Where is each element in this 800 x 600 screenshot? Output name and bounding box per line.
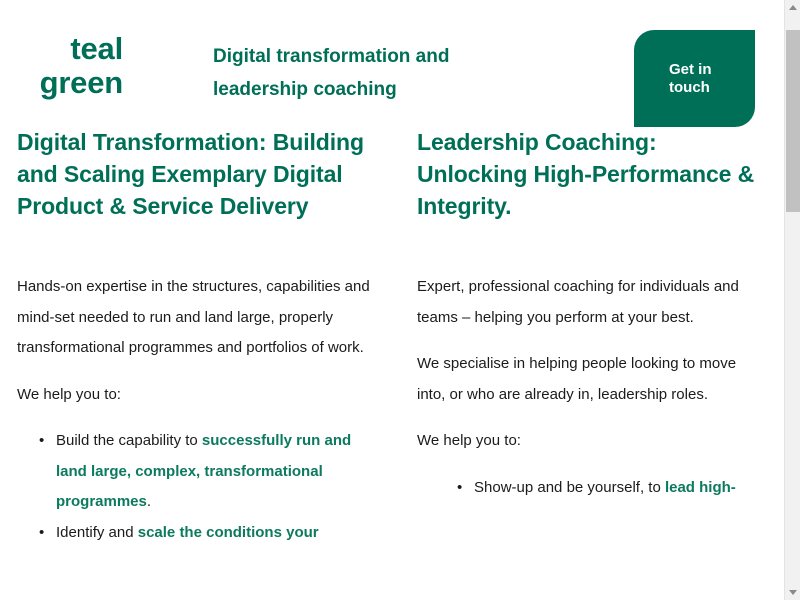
- right-column-intro-2: We specialise in helping people looking …: [417, 349, 761, 410]
- left-column-heading: Digital Transformation: Building and Sca…: [17, 126, 379, 222]
- site-header: teal green Digital transformation and le…: [1, 0, 785, 126]
- bullet-text-tail: .: [147, 493, 151, 510]
- list-item: Identify and scale the conditions your: [39, 518, 379, 549]
- column-digital-transformation: Digital Transformation: Building and Sca…: [1, 126, 409, 548]
- left-heading-spacer: [17, 222, 379, 272]
- right-para-spacer-1: [417, 333, 761, 349]
- list-item: Show-up and be yourself, to lead high-: [457, 473, 761, 504]
- column-leadership-coaching: Leadership Coaching: Unlocking High-Perf…: [409, 126, 785, 548]
- left-column-intro: Hands-on expertise in the structures, ca…: [17, 272, 379, 364]
- vertical-scrollbar[interactable]: [784, 0, 800, 600]
- two-column-section: Digital Transformation: Building and Sca…: [1, 126, 785, 548]
- site-tagline: Digital transformation and leadership co…: [213, 40, 543, 106]
- right-help-label: We help you to:: [417, 426, 761, 457]
- site-logo[interactable]: teal green: [17, 32, 123, 100]
- bullet-text-plain: Identify and: [56, 524, 138, 541]
- scrollbar-thumb[interactable]: [786, 30, 800, 212]
- right-bullet-list: Show-up and be yourself, to lead high-: [417, 473, 761, 504]
- bullet-text-highlight[interactable]: lead high-: [665, 479, 736, 496]
- right-para-spacer-2: [417, 410, 761, 426]
- left-list-spacer: [17, 410, 379, 426]
- right-list-spacer: [417, 457, 761, 473]
- logo-line-teal: teal: [17, 32, 123, 66]
- tagline-line-1: Digital transformation and: [213, 46, 449, 67]
- left-bullet-list: Build the capability to successfully run…: [17, 426, 379, 548]
- list-item: Build the capability to successfully run…: [39, 426, 379, 518]
- get-in-touch-button[interactable]: Get in touch: [634, 30, 755, 127]
- browser-viewport: teal green Digital transformation and le…: [0, 0, 800, 600]
- scroll-down-button[interactable]: [785, 585, 800, 600]
- right-heading-spacer: [417, 222, 761, 272]
- left-para-spacer: [17, 364, 379, 380]
- scroll-up-button[interactable]: [785, 0, 800, 15]
- tagline-line-2: leadership coaching: [213, 79, 397, 100]
- triangle-up-icon: [789, 5, 797, 10]
- cta-line-2: touch: [669, 79, 755, 97]
- left-help-label: We help you to:: [17, 380, 379, 411]
- right-column-heading: Leadership Coaching: Unlocking High-Perf…: [417, 126, 761, 222]
- bullet-text-highlight[interactable]: scale the conditions your: [138, 524, 319, 541]
- bullet-text-plain: Build the capability to: [56, 432, 202, 449]
- right-column-intro: Expert, professional coaching for indivi…: [417, 272, 761, 333]
- page-content: teal green Digital transformation and le…: [0, 0, 785, 600]
- triangle-down-icon: [789, 590, 797, 595]
- logo-line-green: green: [17, 66, 123, 100]
- bullet-text-plain: Show-up and be yourself, to: [474, 479, 665, 496]
- cta-line-1: Get in: [669, 61, 755, 79]
